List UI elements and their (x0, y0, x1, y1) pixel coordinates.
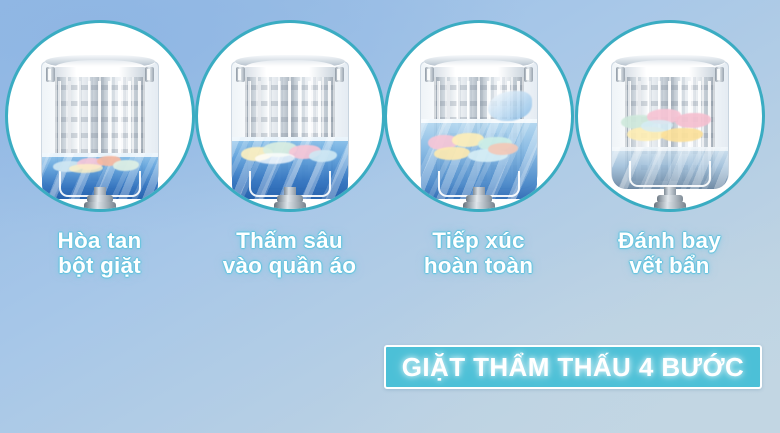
drum-clip-right-icon (715, 67, 724, 82)
step-item-2: Thấm sâu vào quần áo (192, 0, 387, 320)
drum-clip-right-icon (145, 67, 154, 82)
pedestal-tier (86, 210, 114, 212)
step-caption-2: Thấm sâu vào quần áo (192, 228, 387, 278)
step-illustration-circle-4 (575, 20, 765, 212)
washing-machine-illustration-2 (227, 47, 353, 212)
laundry-item (309, 150, 337, 162)
step-caption-3: Tiếp xúc hoàn toàn (381, 228, 576, 278)
step-caption-line1: Đánh bay (572, 228, 767, 253)
step-illustration-circle-1 (5, 20, 195, 212)
step-item-1: Hòa tan bột giặt (2, 0, 197, 320)
bottom-banner: GIẶT THẨM THẤU 4 BƯỚC (384, 345, 762, 389)
steps-row: Hòa tan bột giặt (0, 0, 780, 320)
washing-machine-illustration-1 (37, 47, 163, 212)
step-caption-1: Hòa tan bột giặt (2, 228, 197, 278)
step-caption-line1: Thấm sâu (192, 228, 387, 253)
laundry-item (255, 153, 295, 164)
laundry-cluster-3 (426, 133, 532, 173)
drum-clip-left-icon (425, 67, 434, 82)
laundry-item (675, 113, 711, 128)
laundry-cluster-1 (47, 155, 153, 185)
step-illustration-circle-3 (384, 20, 574, 212)
motor-pedestal (84, 187, 116, 212)
pedestal-tier (276, 210, 304, 212)
motor-pedestal (463, 187, 495, 212)
pedestal-tier (656, 210, 684, 212)
step-caption-line2: vào quần áo (192, 253, 387, 278)
motor-pedestal (654, 187, 686, 212)
pedestal-tier (463, 202, 495, 211)
step-caption-line1: Tiếp xúc (381, 228, 576, 253)
laundry-cluster-2 (237, 139, 343, 173)
step-caption-line2: vết bẩn (572, 253, 767, 278)
step-item-3: Tiếp xúc hoàn toàn (381, 0, 576, 320)
step-caption-line1: Hòa tan (2, 228, 197, 253)
step-caption-line2: bột giặt (2, 253, 197, 278)
pedestal-tier (654, 202, 686, 211)
step-caption-4: Đánh bay vết bẩn (572, 228, 767, 278)
step-illustration-circle-2 (195, 20, 385, 212)
drum-clip-left-icon (616, 67, 625, 82)
laundry-item (113, 160, 139, 171)
water-surface-line (421, 119, 537, 123)
laundry-item (69, 164, 103, 173)
step-caption-line2: hoàn toàn (381, 253, 576, 278)
laundry-item (488, 143, 518, 155)
drum-clip-right-icon (335, 67, 344, 82)
pedestal-tier (465, 210, 493, 212)
drum-clip-left-icon (46, 67, 55, 82)
washing-machine-illustration-4 (607, 47, 733, 212)
laundry-cluster-4 (617, 109, 723, 155)
pulsator-well (629, 161, 711, 187)
step-item-4: Đánh bay vết bẩn (572, 0, 767, 320)
pedestal-tier (274, 202, 306, 211)
laundry-item (434, 147, 470, 160)
washing-machine-illustration-3 (416, 47, 542, 212)
pedestal-tier (84, 202, 116, 211)
drum-clip-right-icon (524, 67, 533, 82)
banner-title: GIẶT THẨM THẤU 4 BƯỚC (402, 352, 744, 383)
motor-pedestal (274, 187, 306, 212)
drum-clip-left-icon (236, 67, 245, 82)
